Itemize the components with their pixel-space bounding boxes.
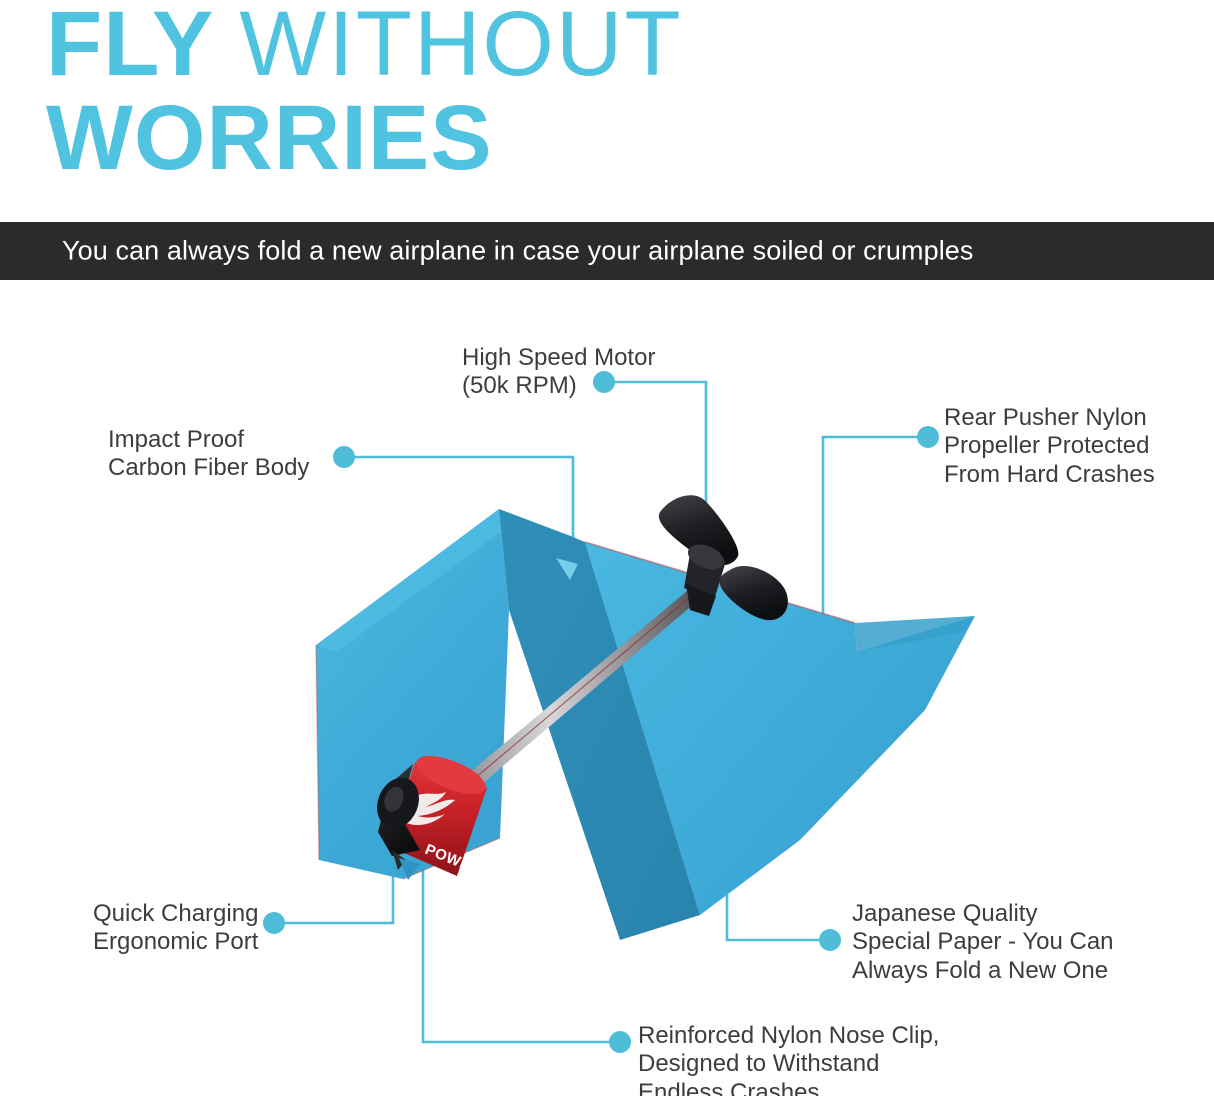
headline-fly: FLY bbox=[46, 0, 214, 95]
dot-nose-clip[interactable] bbox=[609, 1031, 631, 1053]
power-module-label: POWER UP 2.0 bbox=[423, 841, 534, 899]
infographic-page: FLY WITHOUT WORRIES You can always fold … bbox=[0, 0, 1214, 1096]
subtitle-text: You can always fold a new airplane in ca… bbox=[62, 236, 974, 267]
headline-without: WITHOUT bbox=[239, 0, 682, 95]
callout-carbon-fiber-body: Impact Proof Carbon Fiber Body bbox=[108, 426, 358, 483]
callout-nose-clip: Reinforced Nylon Nose Clip, Designed to … bbox=[638, 1022, 968, 1096]
dot-rear-propeller[interactable] bbox=[917, 426, 939, 448]
headline-line-1: FLY WITHOUT bbox=[46, 2, 1146, 88]
callout-special-paper: Japanese Quality Special Paper - You Can… bbox=[852, 900, 1172, 985]
callout-charging-port: Quick Charging Ergonomic Port bbox=[93, 900, 343, 957]
page-title: FLY WITHOUT WORRIES bbox=[46, 2, 1146, 181]
headline-worries: WORRIES bbox=[46, 96, 1146, 182]
callout-rear-propeller: Rear Pusher Nylon Propeller Protected Fr… bbox=[944, 404, 1214, 489]
paper-airplane: POWER UP 2.0 bbox=[316, 495, 975, 940]
callout-high-speed-motor: High Speed Motor (50k RPM) bbox=[462, 344, 722, 401]
subtitle-banner: You can always fold a new airplane in ca… bbox=[0, 222, 1214, 280]
dot-special-paper[interactable] bbox=[819, 929, 841, 951]
